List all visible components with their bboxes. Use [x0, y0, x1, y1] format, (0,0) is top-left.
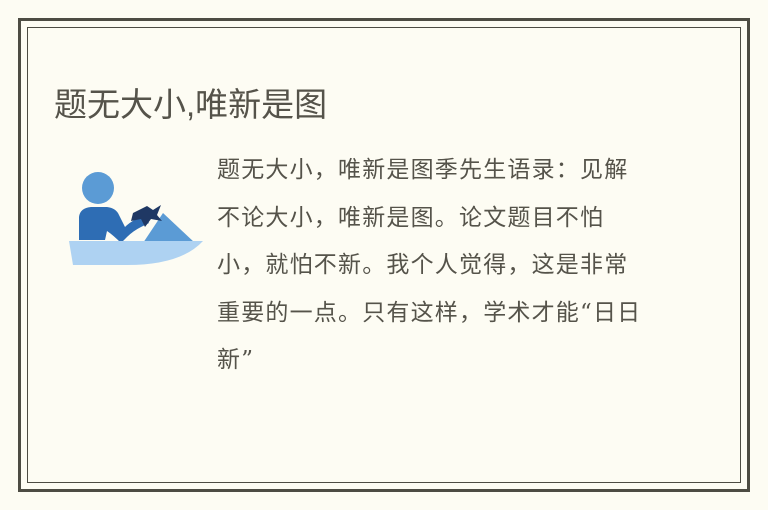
page-title: 题无大小,唯新是图 [54, 84, 327, 126]
page-content: 题无大小,唯新是图 题无大小，唯新是图季先生语录：见解不论大小，唯新是图。论文题… [27, 27, 741, 483]
illustration-head [82, 172, 114, 204]
article-body: 题无大小，唯新是图季先生语录：见解不论大小，唯新是图。论文题目不怕小，就怕不新。… [47, 147, 725, 385]
quote-paragraph: 题无大小，唯新是图季先生语录：见解不论大小，唯新是图。论文题目不怕小，就怕不新。… [217, 147, 647, 385]
person-with-bird-illustration [61, 165, 211, 275]
document-page: 题无大小,唯新是图 题无大小，唯新是图季先生语录：见解不论大小，唯新是图。论文题… [0, 0, 768, 510]
illustration-wave [69, 241, 203, 265]
